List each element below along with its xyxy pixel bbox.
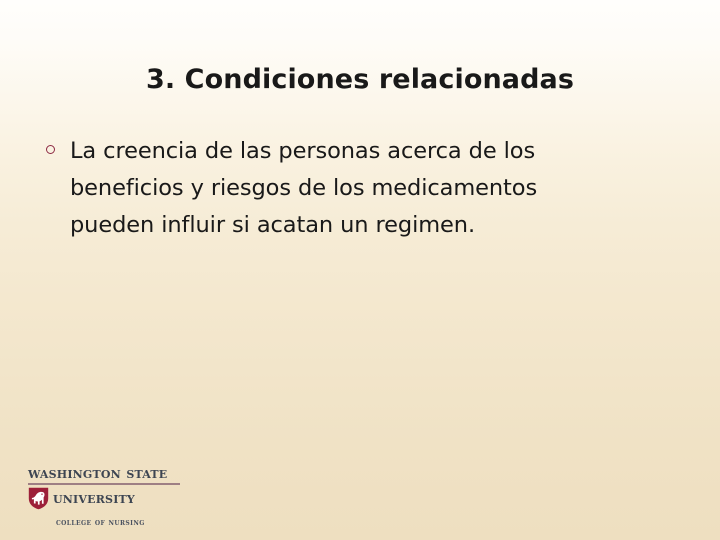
bullet-list: La creencia de las personas acerca de lo… (46, 133, 646, 244)
slide-canvas: 3. Condiciones relacionadas La creencia … (0, 0, 720, 540)
cougar-shield-icon (28, 487, 49, 510)
hollow-circle-bullet-icon (46, 145, 55, 154)
washington-state-university-logo: Washington State University College of N… (28, 466, 228, 527)
list-item: La creencia de las personas acerca de lo… (46, 133, 646, 244)
page-title: 3. Condiciones relacionadas (0, 64, 720, 95)
logo-wordmark-line2: University (53, 490, 135, 506)
logo-college-label: College of Nursing (56, 519, 228, 528)
logo-divider-rule (28, 483, 180, 485)
logo-wordmark-line1: Washington State (28, 466, 228, 481)
list-item-text: La creencia de las personas acerca de lo… (70, 133, 610, 244)
bullet-marker (46, 133, 70, 154)
logo-row-university: University (28, 487, 228, 510)
